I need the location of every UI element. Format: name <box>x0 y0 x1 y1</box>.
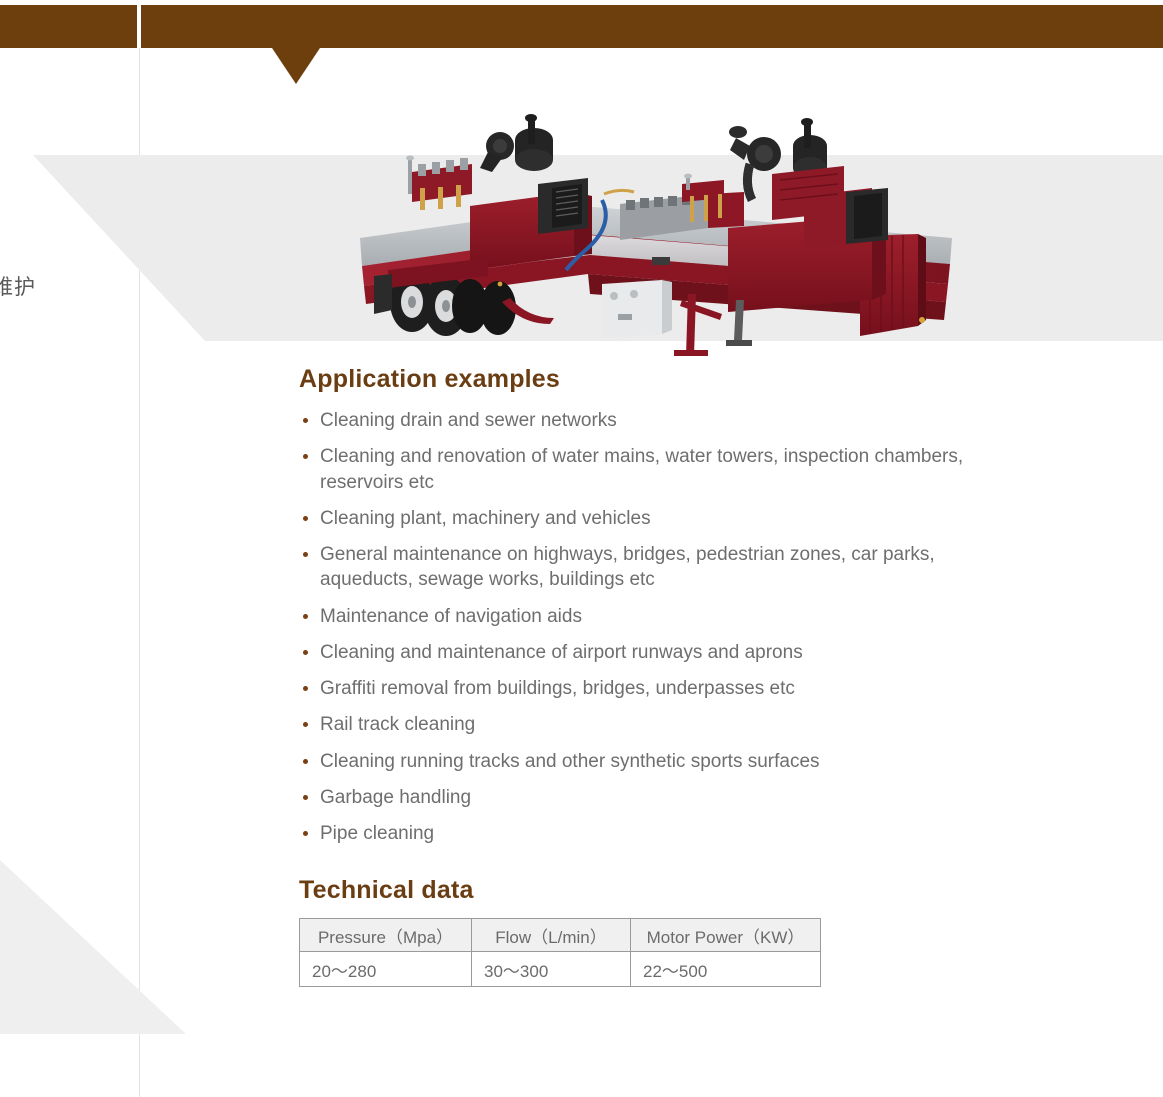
content-column: Application examples Cleaning drain and … <box>299 365 1019 987</box>
product-photo <box>352 88 972 356</box>
list-item: General maintenance on highways, bridges… <box>299 542 1019 593</box>
list-item: Cleaning and renovation of water mains, … <box>299 444 1019 495</box>
list-item: Cleaning and maintenance of airport runw… <box>299 640 1019 665</box>
table-header-row: Pressure（Mpa） Flow（L/min） Motor Power（KW… <box>300 919 821 952</box>
top-header-bar-left-segment <box>0 5 137 48</box>
list-item: Graffiti removal from buildings, bridges… <box>299 676 1019 701</box>
table-header-cell-motor-power: Motor Power（KW） <box>631 919 821 952</box>
table-cell-flow-value: 30～300 <box>472 952 631 987</box>
application-examples-list: Cleaning drain and sewer networks Cleani… <box>299 408 1019 846</box>
list-item: Rail track cleaning <box>299 712 1019 737</box>
list-item: Garbage handling <box>299 785 1019 810</box>
technical-data-table: Pressure（Mpa） Flow（L/min） Motor Power（KW… <box>299 918 821 987</box>
table-cell-motor-power-value: 22～500 <box>631 952 821 987</box>
footer-corner-gray-shape <box>0 860 186 1034</box>
brochure-page: 通维护 <box>0 0 1163 1097</box>
table-cell-pressure-value: 20～280 <box>300 952 472 987</box>
header-notch-triangle-icon <box>272 48 320 84</box>
list-item: Cleaning drain and sewer networks <box>299 408 1019 433</box>
list-item: Maintenance of navigation aids <box>299 604 1019 629</box>
technical-data-heading: Technical data <box>299 876 1019 905</box>
left-rail-caption: 通维护 <box>0 271 130 301</box>
list-item: Cleaning running tracks and other synthe… <box>299 749 1019 774</box>
list-item: Pipe cleaning <box>299 821 1019 846</box>
table-header-cell-flow: Flow（L/min） <box>472 919 631 952</box>
list-item: Cleaning plant, machinery and vehicles <box>299 506 1019 531</box>
table-row: 20～280 30～300 22～500 <box>300 952 821 987</box>
top-header-bar-right-segment <box>141 5 1163 48</box>
application-examples-heading: Application examples <box>299 365 1019 394</box>
top-header-bar <box>0 5 1163 48</box>
table-header-cell-pressure: Pressure（Mpa） <box>300 919 472 952</box>
